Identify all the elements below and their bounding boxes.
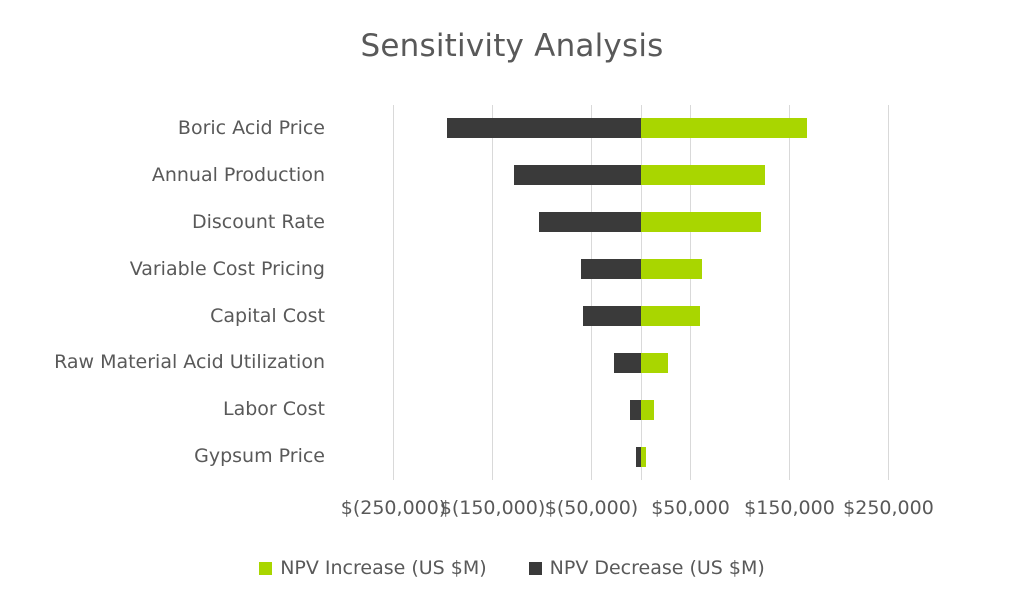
plot-area (344, 105, 938, 480)
bar-npv-increase[interactable] (641, 400, 654, 420)
category-label: Boric Acid Price (0, 105, 325, 152)
category-axis-labels: Boric Acid PriceAnnual ProductionDiscoun… (0, 105, 325, 480)
value-axis-tick-label: $50,000 (651, 497, 730, 519)
bar-row (344, 293, 938, 340)
category-label: Variable Cost Pricing (0, 246, 325, 293)
bar-npv-increase[interactable] (641, 118, 807, 138)
sensitivity-analysis-chart: Sensitivity Analysis Boric Acid PriceAnn… (0, 0, 1024, 614)
bar-npv-decrease[interactable] (630, 400, 641, 420)
bar-npv-increase[interactable] (641, 353, 668, 373)
category-label: Gypsum Price (0, 433, 325, 480)
legend-swatch-icon (529, 562, 542, 575)
bar-npv-decrease[interactable] (514, 165, 641, 185)
legend-item[interactable]: NPV Increase (US $M) (259, 557, 486, 579)
bar-row (344, 152, 938, 199)
bar-npv-increase[interactable] (641, 212, 761, 232)
value-axis-labels: $(250,000)$(150,000)$(50,000)$50,000$150… (0, 497, 1024, 527)
bar-row (344, 339, 938, 386)
bar-npv-increase[interactable] (641, 447, 646, 467)
legend-label: NPV Decrease (US $M) (550, 557, 765, 579)
bar-row (344, 199, 938, 246)
bar-npv-decrease[interactable] (447, 118, 641, 138)
bar-row (344, 105, 938, 152)
bar-row (344, 386, 938, 433)
bar-npv-decrease[interactable] (539, 212, 641, 232)
value-axis-tick-label: $(50,000) (545, 497, 638, 519)
legend-swatch-icon (259, 562, 272, 575)
bar-npv-decrease[interactable] (581, 259, 641, 279)
legend-label: NPV Increase (US $M) (280, 557, 486, 579)
value-axis-tick-label: $(250,000) (341, 497, 446, 519)
bar-npv-increase[interactable] (641, 259, 702, 279)
bar-npv-decrease[interactable] (583, 306, 641, 326)
bar-npv-increase[interactable] (641, 165, 765, 185)
value-axis-tick-label: $(150,000) (440, 497, 545, 519)
value-axis-tick-label: $150,000 (744, 497, 835, 519)
bar-row (344, 246, 938, 293)
bar-npv-decrease[interactable] (614, 353, 641, 373)
category-label: Discount Rate (0, 199, 325, 246)
legend-item[interactable]: NPV Decrease (US $M) (529, 557, 765, 579)
category-label: Annual Production (0, 152, 325, 199)
category-label: Raw Material Acid Utilization (0, 339, 325, 386)
category-label: Labor Cost (0, 386, 325, 433)
chart-legend: NPV Increase (US $M)NPV Decrease (US $M) (0, 557, 1024, 579)
value-axis-tick-label: $250,000 (843, 497, 934, 519)
category-label: Capital Cost (0, 293, 325, 340)
chart-title: Sensitivity Analysis (0, 28, 1024, 64)
bar-npv-increase[interactable] (641, 306, 700, 326)
bar-row (344, 433, 938, 480)
